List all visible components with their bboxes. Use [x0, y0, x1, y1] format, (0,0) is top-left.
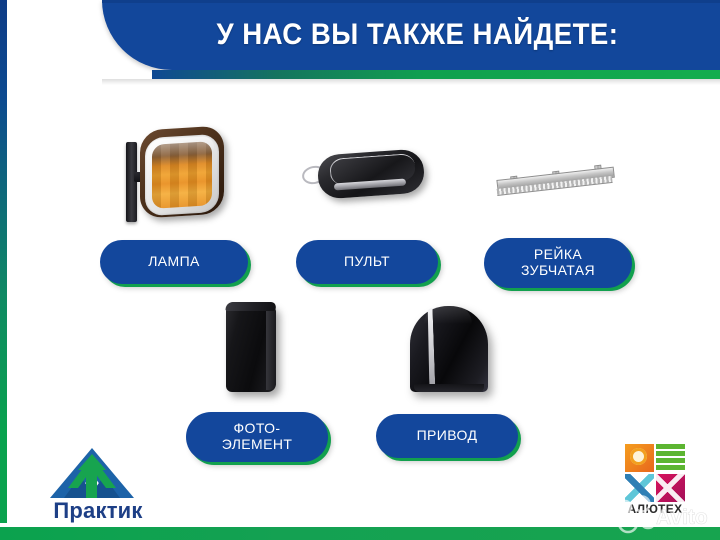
- header-shadow: [102, 79, 720, 85]
- alutech-square-orange: [625, 444, 654, 472]
- product-label-remote[interactable]: ПУЛЬТ: [296, 240, 438, 284]
- header-accent-bar: [152, 70, 720, 79]
- alutech-square-blue: [625, 474, 654, 502]
- product-label-rack[interactable]: РЕЙКА ЗУБЧАТАЯ: [484, 238, 632, 288]
- praktik-logo: Практик: [34, 448, 162, 530]
- gear-rack-image: [495, 160, 617, 208]
- triangle-arrow-logo-icon: [50, 448, 134, 498]
- bottom-edge-bar: [0, 527, 720, 540]
- praktik-logo-text: Практик: [34, 498, 162, 524]
- photocell-top: [225, 302, 277, 311]
- product-label-line: ФОТО-: [222, 421, 293, 437]
- four-squares-logo-icon: [625, 444, 685, 502]
- photocell-image: [222, 300, 284, 398]
- header-banner: У НАС ВЫ ТАКЖЕ НАЙДЕТЕ:: [102, 0, 720, 70]
- alutech-square-green: [656, 444, 685, 472]
- product-label-line: РЕЙКА: [521, 247, 595, 263]
- alutech-logo: АЛЮТЕХ: [617, 444, 693, 520]
- page-title: У НАС ВЫ ТАКЖЕ НАЙДЕТЕ:: [127, 0, 696, 70]
- drive-highlight: [424, 304, 472, 324]
- left-edge-bar: [0, 0, 7, 540]
- drive-unit-image: [408, 300, 492, 398]
- photocell-side: [266, 306, 276, 390]
- slide-canvas: У НАС ВЫ ТАКЖЕ НАЙДЕТЕ: ЛАМПА ПУЛЬТ: [0, 0, 720, 540]
- drive-base: [414, 384, 484, 392]
- alutech-logo-text: АЛЮТЕХ: [617, 502, 693, 516]
- product-label-drive[interactable]: ПРИВОД: [376, 414, 518, 458]
- product-label-line: ПУЛЬТ: [344, 254, 390, 270]
- product-label-lamp[interactable]: ЛАМПА: [100, 240, 248, 284]
- product-label-line: ЛАМПА: [148, 254, 200, 270]
- product-label-line: ПРИВОД: [417, 428, 478, 444]
- product-label-line: ЗУБЧАТАЯ: [521, 263, 595, 279]
- product-label-photocell[interactable]: ФОТО- ЭЛЕМЕНТ: [186, 412, 328, 462]
- lamp-bracket: [126, 142, 137, 222]
- remote-control-image: [300, 148, 426, 204]
- product-label-line: ЭЛЕМЕНТ: [222, 437, 293, 453]
- signal-lamp-image: [118, 120, 228, 230]
- header-top-line: [102, 0, 720, 3]
- alutech-square-magenta: [656, 474, 685, 502]
